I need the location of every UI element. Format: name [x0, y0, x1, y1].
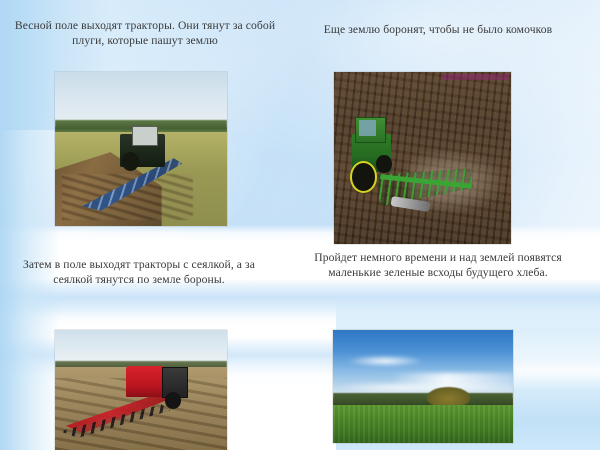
cloud-upper: [347, 355, 423, 367]
cloud-lower: [333, 382, 432, 393]
photo-watermark: [442, 74, 509, 80]
tractor-wheel: [122, 152, 139, 170]
caption-sprouts: Пройдет немного времени и над землей поя…: [312, 250, 564, 281]
tractor-rear-wheel: [350, 161, 377, 193]
photo-harrow-content: [334, 72, 511, 244]
photo-plowing-content: [55, 72, 227, 226]
grass-texture: [333, 405, 513, 443]
tractor-with-plough-photo: [55, 72, 227, 226]
seeder-hopper: [126, 366, 166, 397]
red-seeder-photo: [55, 330, 227, 450]
photo-seeder-content: [55, 330, 227, 450]
tractor-cab: [132, 126, 158, 146]
tractor-window: [359, 120, 377, 135]
caption-harrowing: Еще землю боронят, чтобы не было комочко…: [318, 22, 558, 37]
caption-seeding: Затем в поле выходят тракторы с сеялкой,…: [10, 257, 268, 288]
tractor-wheel: [165, 392, 180, 409]
caption-plowing: Весной поле выходят тракторы. Они тянут …: [14, 18, 276, 49]
furrow-texture: [62, 174, 193, 220]
green-tractor-with-harrow-photo: [334, 72, 511, 244]
presentation-slide: Весной поле выходят тракторы. Они тянут …: [0, 0, 600, 450]
photo-sprouts-content: [333, 330, 513, 443]
slide-background-left-edge: [0, 0, 60, 450]
green-field-sprouts-photo: [333, 330, 513, 443]
